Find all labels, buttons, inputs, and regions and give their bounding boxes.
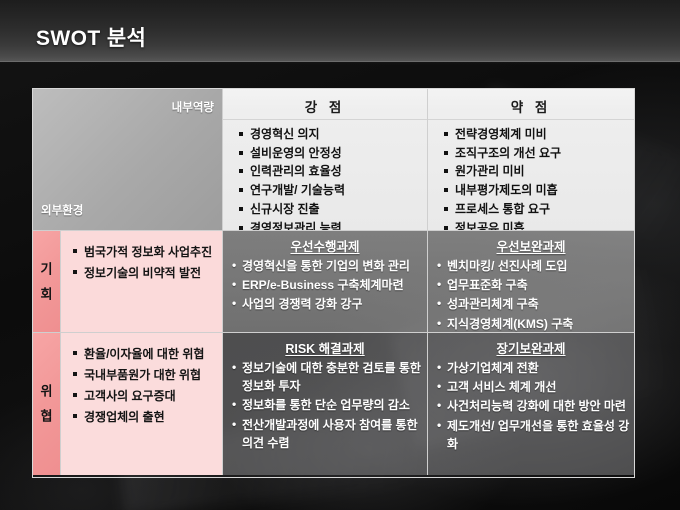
list-item: 원가관리 미비 [444,162,634,181]
slide-canvas: SWOT 분석 내부역량 외부환경 강 점 경영혁신 의지설비운영의 안정성인력… [0,0,680,510]
matrix-axis-corner-cell: 내부역량 외부환경 [33,89,223,231]
quadrant-wo-list: 벤치마킹/ 선진사례 도입업무표준화 구축성과관리체계 구축지식경영체계(KMS… [437,257,634,333]
quadrant-so: 우선수행과제 경영혁신을 통한 기업의 변화 관리ERP/e-Business … [223,231,428,333]
list-item: 전산개발과정에 사용자 참여를 통한 의견 수렴 [232,416,427,452]
list-item: 정보기술에 대한 충분한 검토를 통한 정보화 투자 [232,359,427,395]
list-item: 경쟁업체의 출현 [73,408,222,426]
list-item: 환율/이자율에 대한 위협 [73,345,222,363]
list-item: 고객사의 요구증대 [73,387,222,405]
quadrant-wt: 장기보완과제 가상기업체계 전환고객 서비스 체계 개선사건처리능력 강화에 대… [428,333,634,475]
quadrant-wt-list: 가상기업체계 전환고객 서비스 체계 개선사건처리능력 강화에 대한 방안 마련… [437,359,634,453]
list-item: 신규시장 진출 [239,200,427,219]
quadrant-so-title: 우선수행과제 [223,236,427,255]
list-item: 정보화를 통한 단순 업무량의 감소 [232,396,427,414]
list-item: 경영정보관리 능력 [239,219,427,231]
threat-list-cell: 환율/이자율에 대한 위협국내부품원가 대한 위협고객사의 요구증대경쟁업체의 … [61,333,223,475]
list-item: 정보공유 미흡 [444,219,634,231]
list-item: 경영혁신을 통한 기업의 변화 관리 [232,257,427,275]
list-item: ERP/e-Business 구축체계마련 [232,276,427,294]
threat-list: 환율/이자율에 대한 위협국내부품원가 대한 위협고객사의 요구증대경쟁업체의 … [73,345,222,426]
quadrant-st-title: RISK 해결과제 [223,338,427,357]
row-label-opportunity: 기회 [33,231,61,333]
quadrant-wo-title: 우선보완과제 [428,236,634,255]
swot-matrix-table: 내부역량 외부환경 강 점 경영혁신 의지설비운영의 안정성인력관리의 효율성연… [32,88,635,478]
list-item: 벤치마킹/ 선진사례 도입 [437,257,634,275]
column-header-strength-label: 강 점 [223,96,427,119]
column-header-weakness: 약 점 전략경영체계 미비조직구조의 개선 요구원가관리 미비내부평가제도의 미… [428,89,634,231]
list-item: 인력관리의 효율성 [239,162,427,181]
row-label-threat: 위협 [33,333,61,475]
page-title: SWOT 분석 [36,22,146,52]
list-item: 사건처리능력 강화에 대한 방안 마련 [437,397,634,415]
list-item: 내부평가제도의 미흡 [444,181,634,200]
list-item: 설비운영의 안정성 [239,144,427,163]
list-item: 조직구조의 개선 요구 [444,144,634,163]
axis-label-internal: 내부역량 [172,99,214,115]
quadrant-st-list: 정보기술에 대한 충분한 검토를 통한 정보화 투자정보화를 통한 단순 업무량… [232,359,427,452]
list-item: 성과관리체계 구축 [437,295,634,313]
list-item: 범국가적 정보화 사업추진 [73,243,222,261]
list-item: 제도개선/ 업무개선을 통한 효율성 강화 [437,417,634,453]
column-header-divider [428,119,634,120]
list-item: 프로세스 통합 요구 [444,200,634,219]
row-label-opportunity-text: 기회 [33,256,60,307]
list-item: 가상기업체계 전환 [437,359,634,377]
list-item: 고객 서비스 체계 개선 [437,378,634,396]
opportunity-list-cell: 범국가적 정보화 사업추진정보기술의 비약적 발전 [61,231,223,333]
column-header-weakness-label: 약 점 [428,96,634,119]
list-item: 지식경영체계(KMS) 구축 [437,315,634,333]
title-bar: SWOT 분석 [0,0,680,62]
row-label-threat-text: 위협 [33,379,60,430]
list-item: 경영혁신 의지 [239,125,427,144]
quadrant-so-list: 경영혁신을 통한 기업의 변화 관리ERP/e-Business 구축체계마련사… [232,257,427,314]
strength-list: 경영혁신 의지설비운영의 안정성인력관리의 효율성연구개발/ 기술능력신규시장 … [239,125,427,231]
list-item: 업무표준화 구축 [437,276,634,294]
quadrant-st: RISK 해결과제 정보기술에 대한 충분한 검토를 통한 정보화 투자정보화를… [223,333,428,475]
list-item: 국내부품원가 대한 위협 [73,366,222,384]
column-header-strength: 강 점 경영혁신 의지설비운영의 안정성인력관리의 효율성연구개발/ 기술능력신… [223,89,428,231]
list-item: 사업의 경쟁력 강화 강구 [232,295,427,313]
list-item: 정보기술의 비약적 발전 [73,264,222,282]
list-item: 전략경영체계 미비 [444,125,634,144]
quadrant-wo: 우선보완과제 벤치마킹/ 선진사례 도입업무표준화 구축성과관리체계 구축지식경… [428,231,634,333]
list-item: 연구개발/ 기술능력 [239,181,427,200]
axis-label-external: 외부환경 [41,202,83,218]
opportunity-list: 범국가적 정보화 사업추진정보기술의 비약적 발전 [73,243,222,282]
weakness-list: 전략경영체계 미비조직구조의 개선 요구원가관리 미비내부평가제도의 미흡프로세… [444,125,634,231]
quadrant-wt-title: 장기보완과제 [428,338,634,357]
column-header-divider [223,119,427,120]
